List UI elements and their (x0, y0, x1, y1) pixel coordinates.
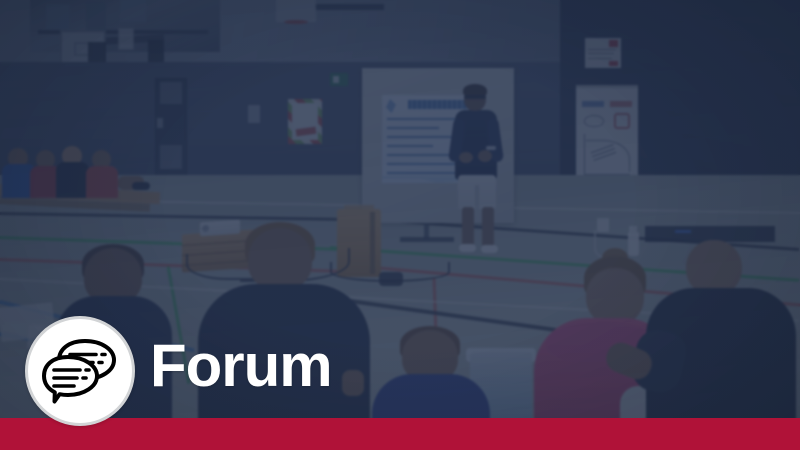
forum-banner: Forum (0, 0, 800, 450)
forum-logo-badge[interactable] (25, 316, 135, 426)
speech-bubbles-icon (41, 338, 119, 404)
bottom-accent-bar (0, 418, 800, 450)
banner-title: Forum (150, 334, 332, 398)
